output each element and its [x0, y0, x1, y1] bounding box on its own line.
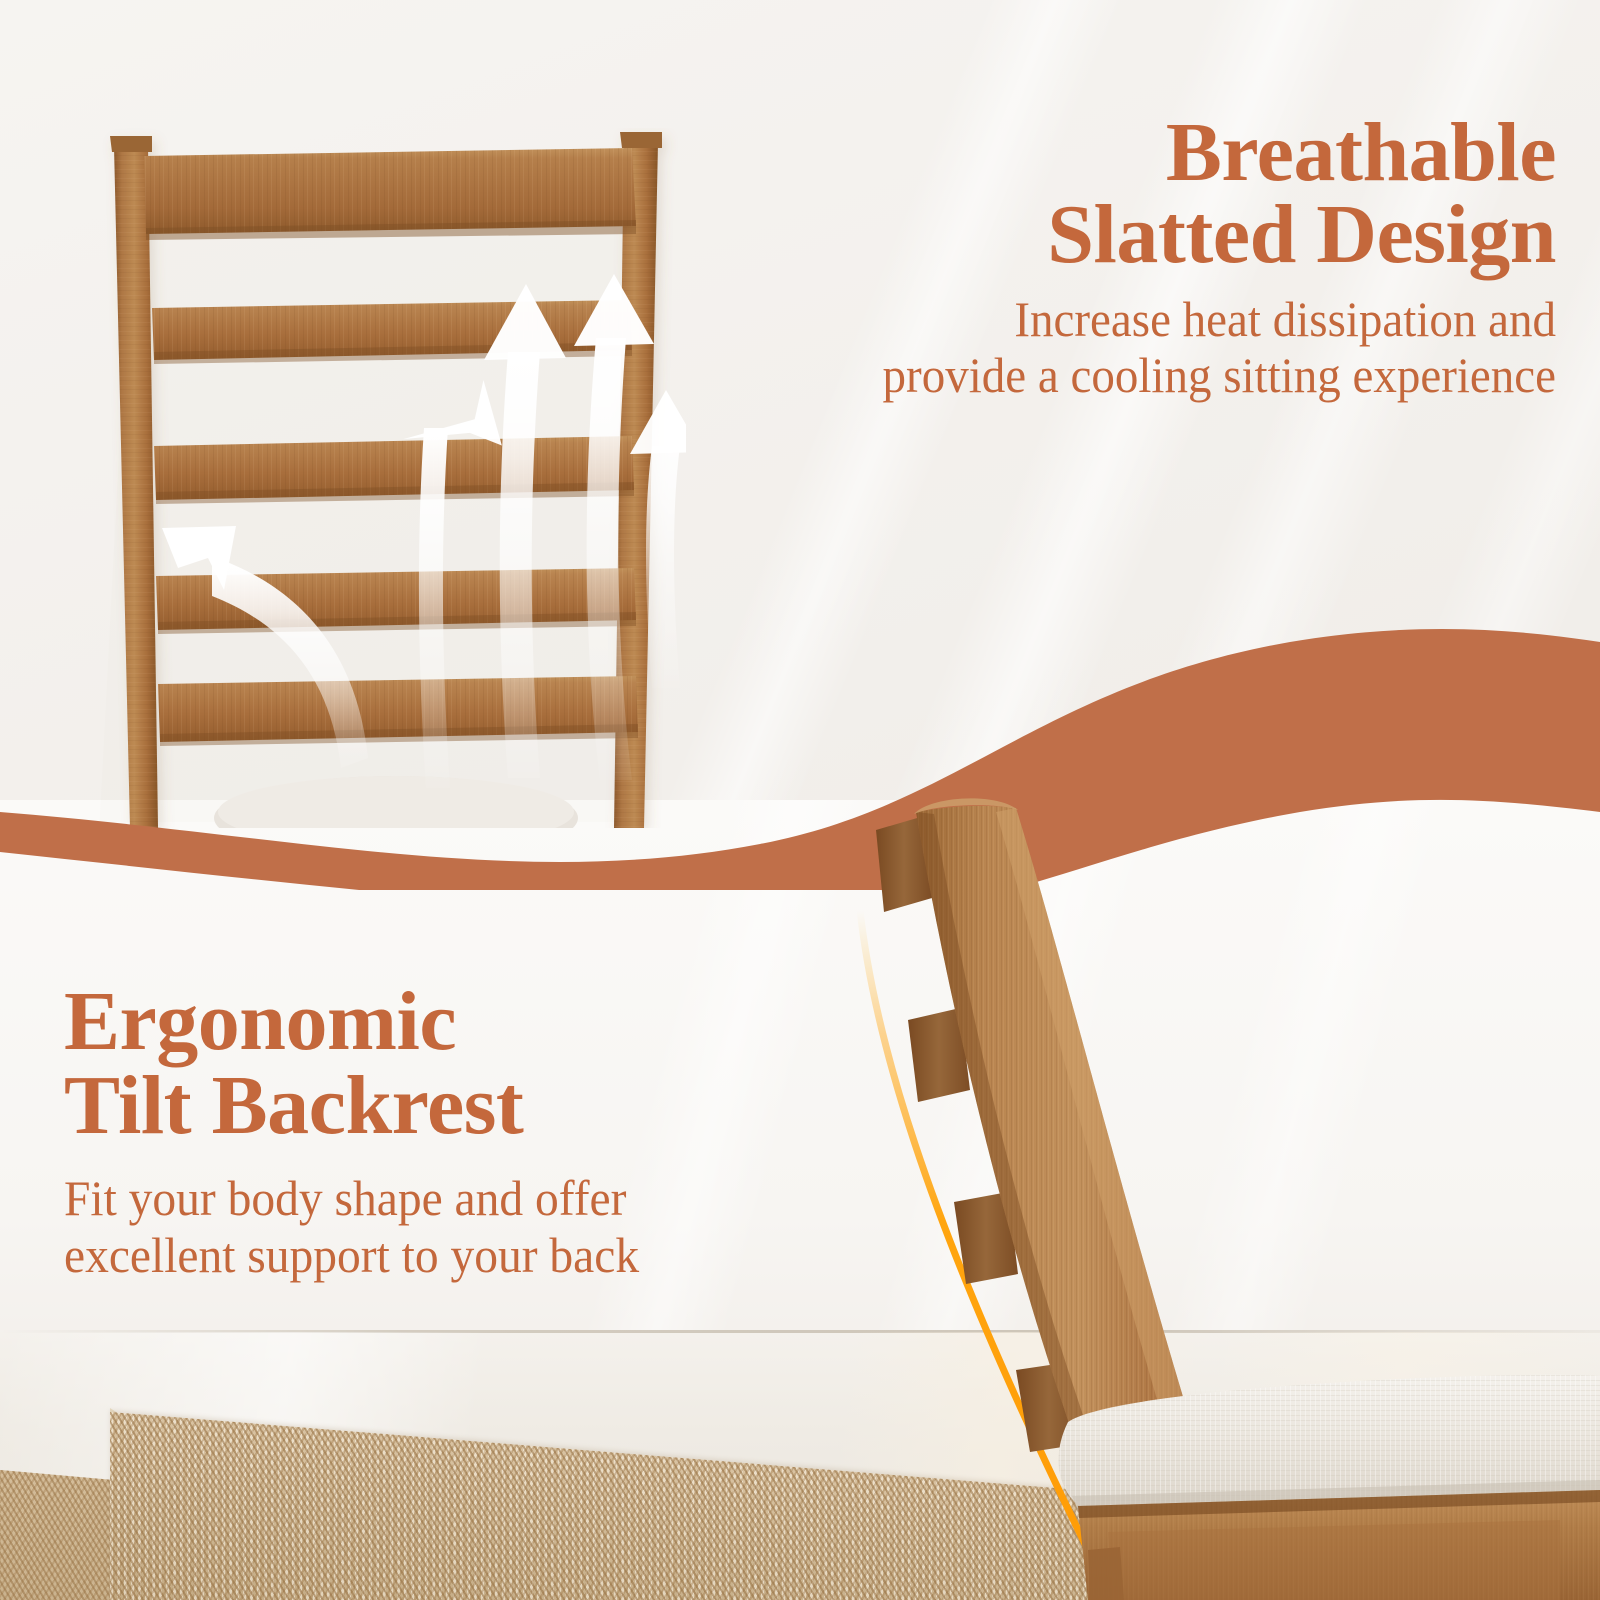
feature-title-breathable: Breathable Slatted Design: [576, 112, 1556, 277]
feature-body-ergonomic: Fit your body shape and offer excellent …: [64, 1170, 919, 1284]
feature-body-line2: provide a cooling sitting experience: [635, 347, 1556, 403]
infographic-canvas: Breathable Slatted Design Increase heat …: [0, 0, 1600, 1600]
feature-body-line1: Increase heat dissipation and: [1014, 291, 1556, 347]
feature-breathable-slatted-design: Breathable Slatted Design Increase heat …: [576, 112, 1556, 403]
feature-title-ergonomic: Ergonomic Tilt Backrest: [64, 980, 964, 1148]
seat-apron: [1078, 1490, 1600, 1600]
feature-body-line1: Fit your body shape and offer: [64, 1170, 626, 1226]
feature-body-line2: excellent support to your back: [64, 1227, 919, 1284]
feature-ergonomic-tilt-backrest: Ergonomic Tilt Backrest Fit your body sh…: [64, 980, 964, 1284]
feature-title-line1: Breathable: [1166, 106, 1556, 199]
feature-title-line2: Slatted Design: [576, 194, 1556, 276]
feature-title-line1: Ergonomic: [64, 975, 456, 1068]
feature-title-line2: Tilt Backrest: [64, 1064, 964, 1148]
feature-body-breathable: Increase heat dissipation and provide a …: [635, 291, 1556, 403]
